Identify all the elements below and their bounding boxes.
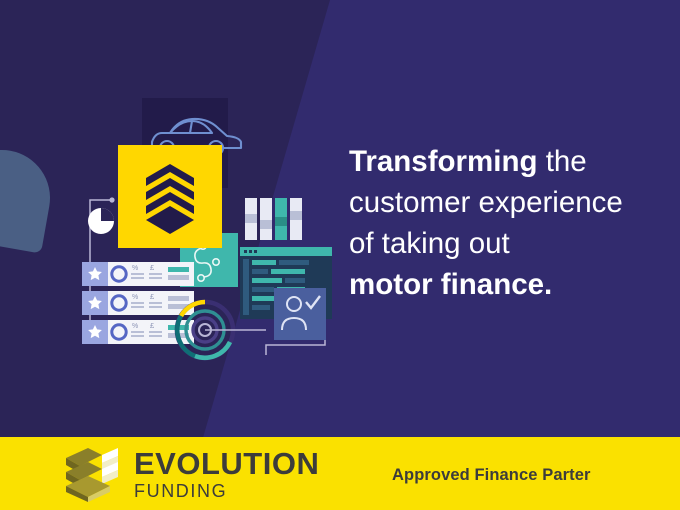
percent-icon: % [132,323,138,330]
evolution-chevron-logo-icon [62,445,124,503]
bar-group [245,198,302,240]
connector-bracket-bottom [266,340,325,355]
footer-tagline: Approved Finance Parter [392,466,591,485]
headline-emphasis-2: motor finance. [349,268,552,301]
pie-chart-icon [88,208,114,234]
brand-logo[interactable]: EVOLUTION FUNDING [62,445,319,503]
list-item[interactable]: % £ [82,291,194,315]
headline-line-2: customer experience [349,182,669,223]
percent-icon: % [132,294,138,301]
percent-icon: % [132,265,138,272]
headline-line-1-rest: the [538,145,587,178]
brand-name-primary: EVOLUTION [134,448,319,479]
headline-emphasis-1: Transforming [349,145,538,178]
verified-customer-card [274,288,326,340]
brand-logo-text: EVOLUTION FUNDING [134,448,319,500]
banner-canvas: % £ % £ [0,0,680,510]
illustration-collage: % £ % £ [70,90,335,380]
brand-name-secondary: FUNDING [134,482,319,500]
list-item[interactable]: % £ [82,262,194,286]
headline-line-4: motor finance. [349,264,669,305]
headline-line-3: of taking out [349,223,669,264]
headline-line-1: Transforming the [349,141,669,182]
headline: Transforming the customer experience of … [349,141,669,305]
connector-node-left [109,197,114,202]
